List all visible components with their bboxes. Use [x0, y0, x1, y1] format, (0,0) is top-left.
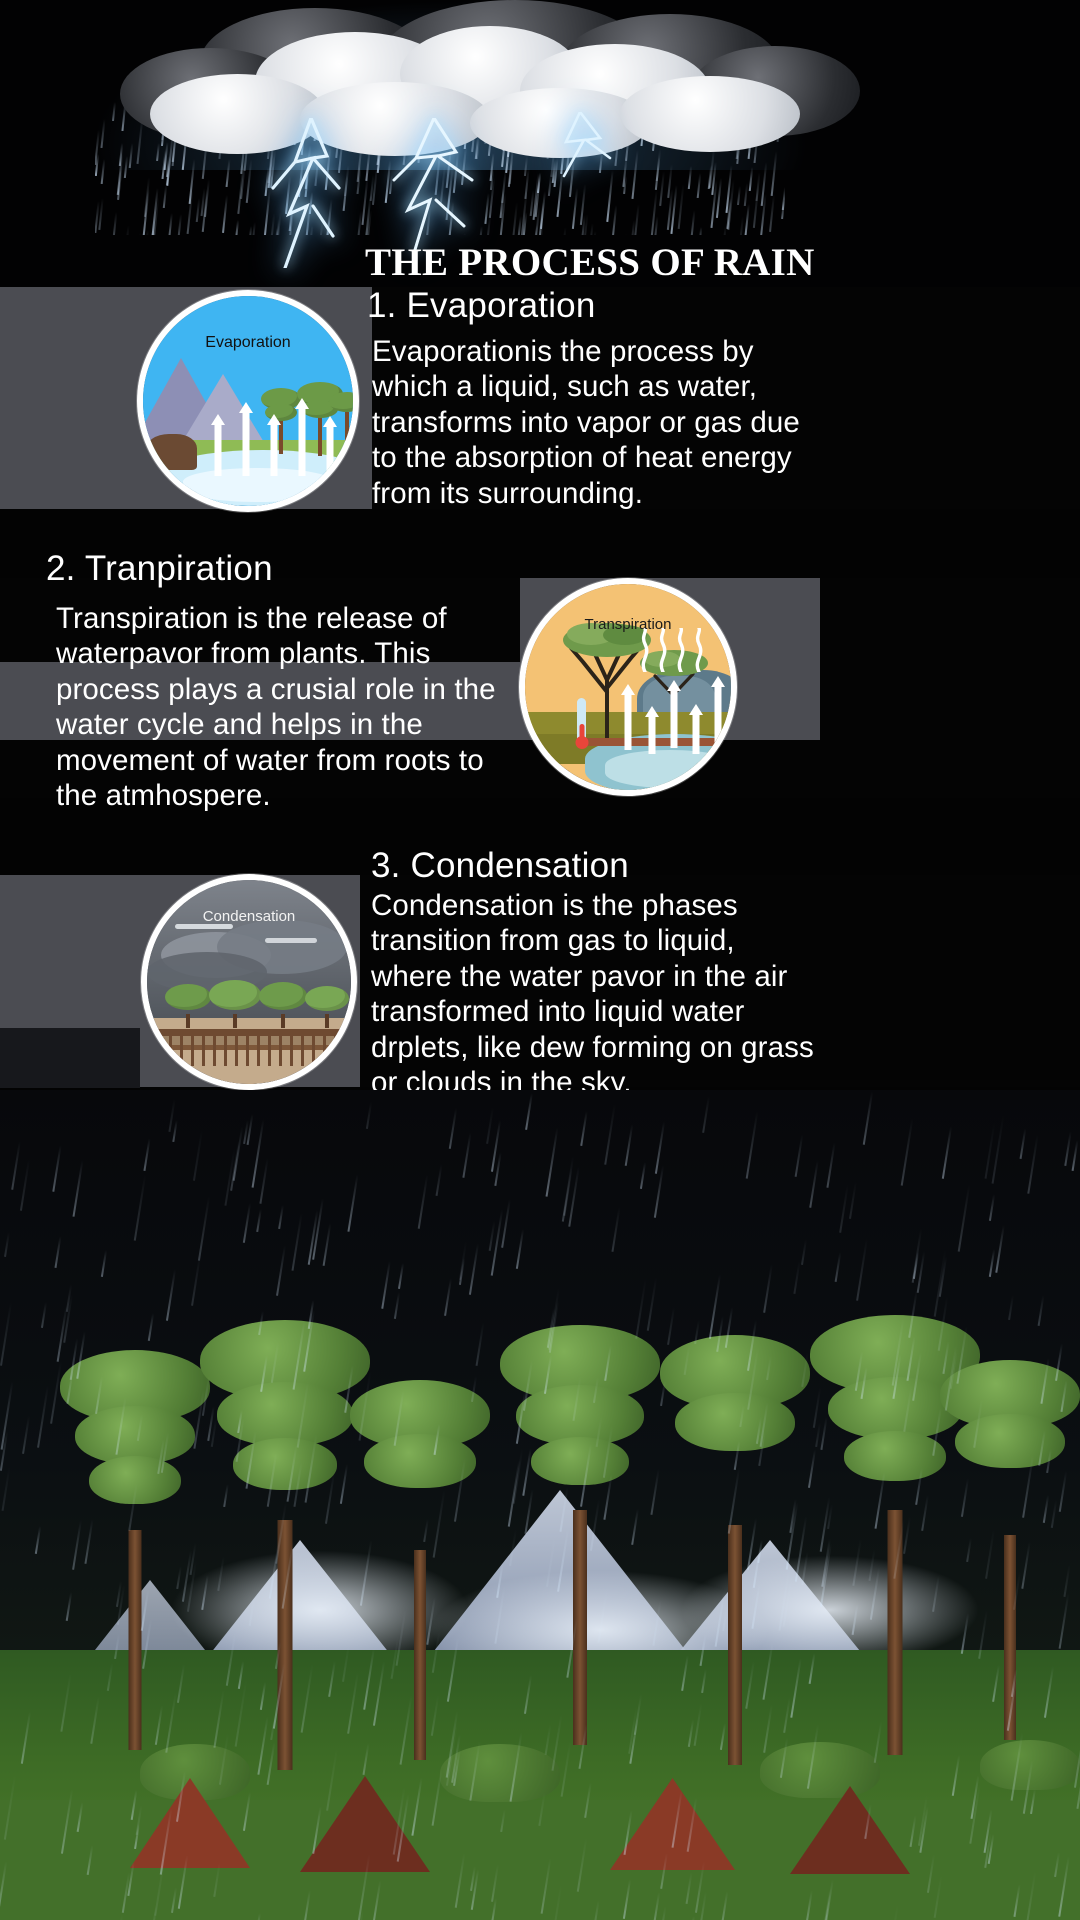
body-line: Condensation is the phases — [371, 888, 1071, 923]
condensation-image-caption: Condensation — [147, 908, 351, 925]
forest-rain-overlay — [0, 1090, 1080, 1920]
body-line: transition from gas to liquid, — [371, 923, 1071, 958]
section-body-condensation: Condensation is the phases transition fr… — [371, 888, 1071, 1100]
tree-icon — [305, 986, 349, 1028]
lightning-bolt-icon — [380, 118, 495, 253]
tree-icon — [259, 982, 307, 1028]
transpiration-arrow-icon — [645, 706, 659, 754]
band-mask — [0, 1028, 140, 1088]
body-line: Evaporationis the process by — [372, 334, 1062, 369]
thermometer-icon — [577, 698, 586, 744]
evaporation-illustration: Evaporation — [137, 290, 359, 512]
fence-posts — [147, 1034, 351, 1066]
section-heading-evaporation: 1. Evaporation — [367, 287, 596, 326]
condensation-illustration: Condensation — [141, 874, 357, 1090]
transpiration-image-caption: Transpiration — [525, 616, 731, 633]
page-title: THE PROCESS OF RAIN — [365, 243, 1055, 284]
evaporation-image-caption: Evaporation — [143, 334, 353, 352]
lightning-bolt-icon — [540, 112, 625, 192]
body-line: which a liquid, such as water, — [372, 369, 1062, 404]
evaporation-arrow-icon — [239, 402, 253, 476]
transpiration-arrow-icon — [689, 704, 703, 754]
transpiration-arrow-icon — [667, 680, 681, 748]
section-heading-condensation: 3. Condensation — [371, 847, 629, 886]
evaporation-arrow-icon — [295, 398, 309, 476]
transpiration-arrow-icon — [621, 684, 635, 750]
evaporation-arrow-icon — [267, 414, 281, 476]
body-line: from its surrounding. — [372, 476, 1062, 511]
transpiration-illustration: Transpiration — [519, 578, 737, 796]
tree-icon — [209, 980, 261, 1028]
body-line: drplets, like dew forming on grass — [371, 1030, 1071, 1065]
vapor-squiggle-icon — [637, 628, 717, 677]
poster-canvas: THE PROCESS OF RAIN Evaporation 1. Evapo… — [0, 0, 1080, 1920]
section-heading-transpiration: 2. Tranpiration — [46, 550, 273, 589]
forest-scene-illustration — [0, 1090, 1080, 1920]
band-mask — [820, 578, 1080, 798]
section-body-evaporation: Evaporationis the process by which a liq… — [372, 334, 1062, 511]
rock-shape — [145, 434, 197, 470]
tree-icon — [165, 984, 211, 1028]
body-line: to the absorption of heat energy — [372, 440, 1062, 475]
body-line: transforms into vapor or gas due — [372, 405, 1062, 440]
cloud-streak — [265, 938, 317, 943]
evaporation-arrow-icon — [211, 414, 225, 476]
transpiration-arrow-icon — [711, 676, 725, 746]
lightning-bolt-icon — [255, 118, 365, 268]
water-body — [183, 468, 333, 502]
body-line: transformed into liquid water — [371, 994, 1071, 1029]
body-line: where the water pavor in the air — [371, 959, 1071, 994]
water-body — [605, 750, 735, 788]
storm-cloud-light — [620, 76, 800, 152]
evaporation-arrow-icon — [323, 416, 337, 476]
